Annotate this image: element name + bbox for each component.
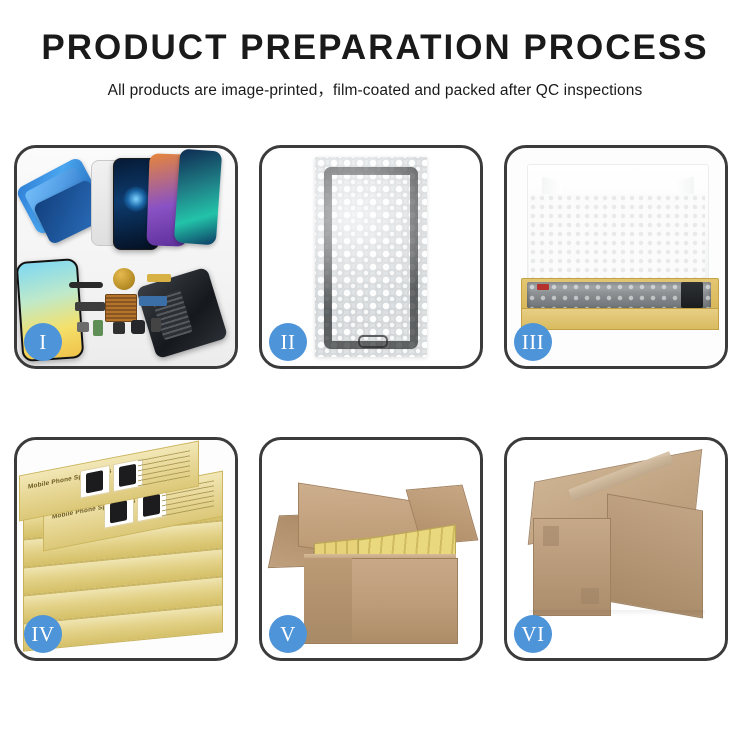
screen-dark-end	[681, 282, 703, 308]
process-step-grid: I II	[14, 145, 736, 661]
step-badge-4: IV	[24, 615, 62, 653]
product-preparation-infographic: PRODUCT PREPARATION PROCESS All products…	[0, 0, 750, 750]
chip-grid-icon	[105, 294, 137, 322]
battery-part-icon	[93, 320, 103, 336]
speaker-coil-icon	[113, 268, 135, 290]
sim-tray-icon	[151, 318, 161, 332]
process-step-panel-1: I	[14, 145, 238, 369]
flex-cable-icon	[75, 302, 105, 311]
page-title: PRODUCT PREPARATION PROCESS	[0, 30, 750, 67]
teal-phone-icon	[174, 149, 222, 246]
red-label-mark	[537, 284, 549, 290]
step-badge-1: I	[24, 323, 62, 361]
carton-ground-shadow	[529, 610, 705, 616]
sealed-carton-right-face	[607, 494, 703, 619]
process-step-panel-2: II	[259, 145, 483, 369]
film-highlight	[315, 157, 427, 357]
box-window-left-upper	[80, 465, 110, 499]
step-badge-3: III	[514, 323, 552, 361]
blue-connector-icon	[139, 296, 167, 306]
kraft-box-front	[521, 308, 719, 330]
gold-connector-icon	[147, 274, 171, 282]
page-subtitle: All products are image-printed，film-coat…	[0, 78, 750, 100]
carton-seam-lower	[581, 588, 599, 604]
foam-texture	[529, 194, 705, 286]
step-badge-6: VI	[514, 615, 552, 653]
small-chip-icon	[113, 322, 125, 334]
spare-parts-cluster	[69, 266, 199, 346]
step-badge-2: II	[269, 323, 307, 361]
carton-seam-upper	[543, 526, 559, 546]
carton-front-left	[304, 558, 352, 642]
screw-part-icon	[77, 322, 89, 332]
camera-module-icon	[131, 320, 145, 334]
box-spec-lines-upper	[138, 450, 190, 488]
process-step-panel-5: V	[259, 437, 483, 661]
process-step-panel-6: VI	[504, 437, 728, 661]
step-badge-5: V	[269, 615, 307, 653]
bubble-wrap-sheet	[315, 157, 427, 357]
header: PRODUCT PREPARATION PROCESS All products…	[0, 0, 750, 100]
process-step-panel-4: Mobile Phone Spare Parts Mobile Phone Sp…	[14, 437, 238, 661]
flex-strip-icon	[69, 282, 103, 288]
process-step-panel-3: III	[504, 145, 728, 369]
